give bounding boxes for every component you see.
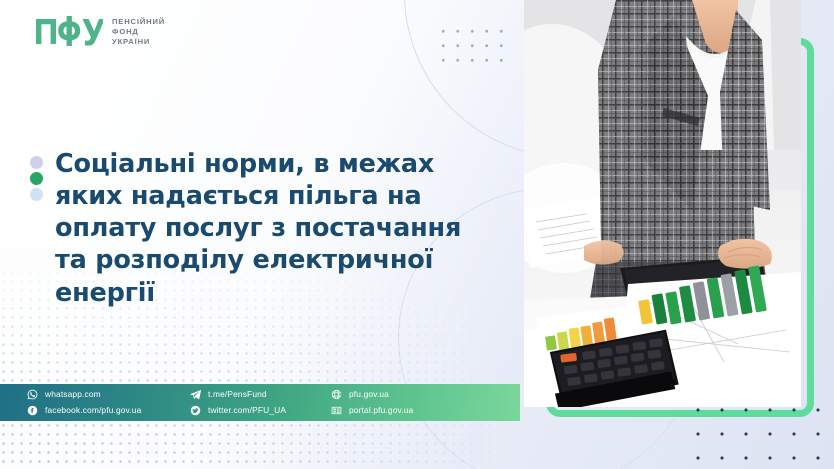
bullet-dot-marker: [30, 148, 43, 309]
page-title: Соціальні норми, в межах яких надається …: [55, 148, 495, 309]
bullet-dot-blue-icon: [30, 188, 43, 201]
whatsapp-icon: [27, 389, 38, 400]
globe-icon: [331, 389, 342, 400]
logo-line-3: УКРАЇНИ: [112, 38, 165, 46]
logo-line-2: ФОНД: [112, 28, 165, 36]
dot-grid-top: [436, 24, 508, 64]
contact-label: twitter.com/PFU_UA: [208, 406, 286, 414]
portal-icon: [331, 405, 342, 416]
hero-photo: [524, 0, 801, 407]
contact-link-portal[interactable]: portal.pfu.gov.ua: [331, 404, 471, 417]
telegram-icon: [190, 389, 201, 400]
facebook-icon: [27, 405, 38, 416]
dot-grid-bottom-right: [686, 398, 834, 469]
pfu-logo-mark: [35, 16, 103, 46]
logo-line-1: ПЕНСІЙНИЙ: [112, 18, 165, 26]
contact-label: t.me/PensFund: [208, 390, 267, 398]
contact-label: portal.pfu.gov.ua: [349, 406, 413, 414]
twitter-icon: [190, 405, 201, 416]
contact-link-telegram[interactable]: t.me/PensFund: [190, 388, 331, 401]
contact-label: facebook.com/pfu.gov.ua: [45, 406, 141, 414]
contact-column-2: t.me/PensFund twitter.com/PFU_UA: [190, 388, 331, 417]
contact-column-1: whatsapp.com facebook.com/pfu.gov.ua: [27, 388, 190, 417]
contact-link-twitter[interactable]: twitter.com/PFU_UA: [190, 404, 331, 417]
pfu-logo-wordmark: ПЕНСІЙНИЙ ФОНД УКРАЇНИ: [112, 17, 165, 46]
contact-link-facebook[interactable]: facebook.com/pfu.gov.ua: [27, 404, 190, 417]
contact-label: whatsapp.com: [45, 390, 101, 398]
contact-column-3: pfu.gov.ua portal.pfu.gov.ua: [331, 388, 471, 417]
contact-label: pfu.gov.ua: [349, 390, 389, 398]
headline-block: Соціальні норми, в межах яких надається …: [30, 148, 500, 309]
poster-canvas: ПЕНСІЙНИЙ ФОНД УКРАЇНИ Соціальні норми, …: [0, 0, 834, 469]
pfu-logo[interactable]: ПЕНСІЙНИЙ ФОНД УКРАЇНИ: [35, 16, 165, 46]
bullet-dot-green-icon: [30, 172, 43, 185]
contact-footer-band: whatsapp.com facebook.com/pfu.gov.ua t.m…: [0, 384, 520, 421]
hero-photo-illustration: [524, 0, 801, 407]
contact-link-whatsapp[interactable]: whatsapp.com: [27, 388, 190, 401]
contact-link-website[interactable]: pfu.gov.ua: [331, 388, 471, 401]
bullet-dot-lavender-icon: [30, 156, 43, 169]
